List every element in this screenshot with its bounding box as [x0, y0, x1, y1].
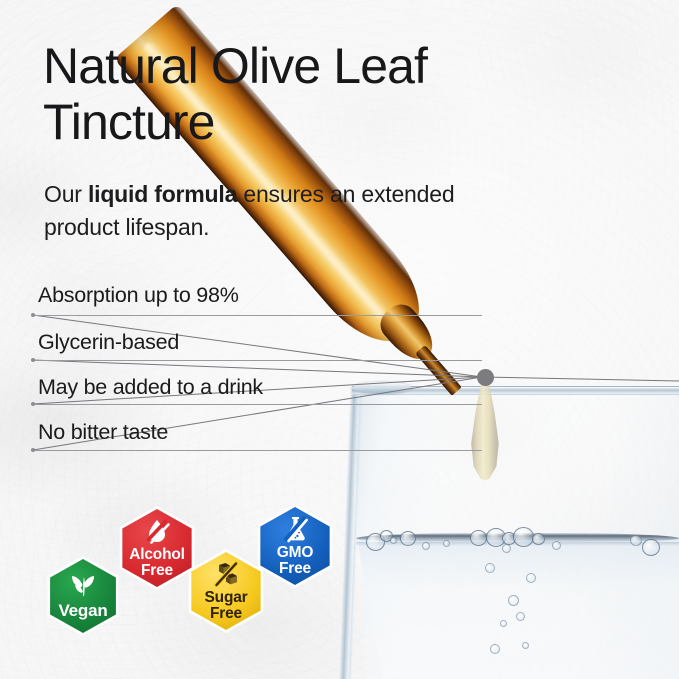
badge-label-vegan: Vegan: [58, 602, 107, 619]
badge-label-sugar: Sugar Free: [205, 590, 248, 622]
feature-dot: [31, 402, 35, 406]
feature-label: May be added to a drink: [38, 375, 263, 400]
badge-label-alcohol: Alcohol Free: [129, 547, 184, 579]
product-infographic: Natural Olive Leaf Tincture Our liquid f…: [0, 0, 679, 679]
flask-slash-icon: [280, 515, 310, 543]
feature-item: Absorption up to 98%: [38, 283, 239, 308]
badge-line1: Vegan: [58, 601, 107, 620]
badge-line2: Free: [205, 606, 248, 622]
feature-label: Glycerin-based: [38, 330, 179, 355]
feature-dot: [31, 358, 35, 362]
feature-label: Absorption up to 98%: [38, 283, 239, 308]
droplet-slash-icon: [142, 517, 172, 545]
feature-label: No bitter taste: [38, 420, 168, 445]
feature-dot: [31, 448, 35, 452]
feature-rule: [33, 360, 482, 361]
badge-line1: GMO: [277, 545, 313, 561]
feature-item: May be added to a drink: [38, 375, 263, 400]
badge-line1: Sugar: [205, 590, 248, 606]
feature-dot: [31, 313, 35, 317]
badge-label-gmo: GMO Free: [277, 545, 313, 577]
feature-item: No bitter taste: [38, 420, 168, 445]
feature-item: Glycerin-based: [38, 330, 179, 355]
badge-line1: Alcohol: [129, 547, 184, 563]
feature-rule: [33, 404, 482, 405]
leaf-icon: [68, 572, 98, 599]
feature-rule: [33, 450, 482, 451]
sugar-cubes-slash-icon: [211, 561, 241, 588]
feature-rule: [33, 315, 482, 316]
badge-line2: Free: [277, 561, 313, 577]
